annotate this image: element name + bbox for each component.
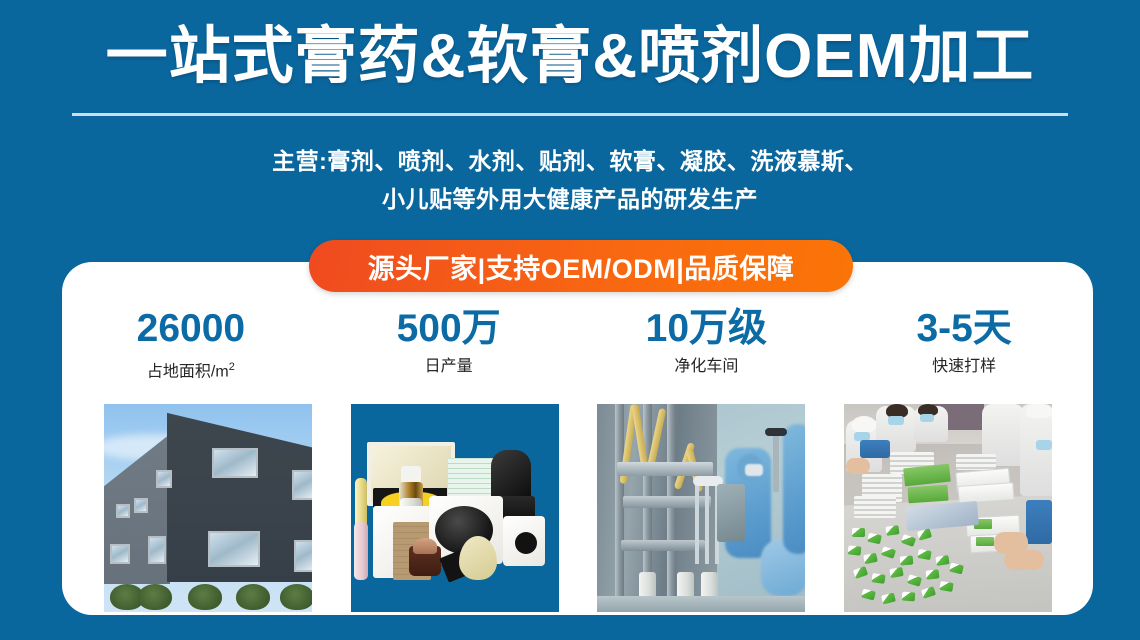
blue-tote-bin	[1026, 500, 1052, 544]
worker-hand	[1004, 550, 1044, 570]
stat-label-text: 净化车间	[674, 358, 738, 375]
stand-pole	[773, 428, 779, 492]
stand-knob	[765, 428, 787, 436]
subtitle-line-2: 小儿贴等外用大健康产品的研发生产	[0, 180, 1140, 218]
stat-cleanroom-class: 10万级 净化车间	[578, 305, 836, 395]
thyroid-patch-product	[459, 536, 497, 580]
production-line-photo	[597, 404, 805, 612]
stat-label-text: 日产量	[425, 358, 473, 375]
stat-daily-output: 500万 日产量	[320, 305, 578, 395]
sachet-item	[939, 581, 953, 592]
window-shape	[116, 504, 130, 518]
blue-tote-bin	[860, 440, 890, 458]
shrub-shape	[280, 584, 312, 610]
machine-column	[667, 404, 676, 612]
worker-cap	[1026, 404, 1052, 418]
window-shape	[156, 470, 172, 488]
stat-value: 3-5天	[835, 305, 1093, 353]
worker-mask	[888, 416, 904, 425]
window-shape	[212, 448, 258, 478]
factory-building-photo	[104, 404, 312, 612]
stat-label-text: 快速打样	[932, 358, 996, 375]
machine-column	[615, 404, 624, 612]
shrub-shape	[138, 584, 172, 610]
worker-cap	[852, 416, 876, 432]
stat-value: 10万级	[578, 305, 836, 353]
sachet-item	[900, 555, 914, 565]
stats-row: 26000 占地面积/m2 500万 日产量 10万级 净化车间 3-5天 快速…	[62, 305, 1093, 395]
subtitle: 主营:膏剂、喷剂、水剂、贴剂、软膏、凝胶、洗液慕斯、 小儿贴等外用大健康产品的研…	[0, 142, 1140, 218]
worker-mask	[1036, 440, 1052, 450]
control-panel	[717, 484, 745, 542]
conveyor-belt	[597, 596, 805, 612]
green-product-batch	[903, 464, 951, 487]
shrub-shape	[188, 584, 222, 610]
sachet-item	[852, 528, 865, 537]
nozzle	[705, 486, 709, 564]
promo-banner: 一站式膏药&软膏&喷剂OEM加工 主营:膏剂、喷剂、水剂、贴剂、软膏、凝胶、洗液…	[0, 0, 1140, 640]
green-product-batch	[907, 485, 948, 504]
status-badge[interactable]: 源头厂家|支持OEM/ODM|品质保障	[309, 240, 853, 292]
window-shape	[208, 531, 260, 567]
sachet-item	[885, 525, 899, 536]
worker-mask	[745, 464, 763, 476]
product-stack	[854, 496, 896, 518]
window-shape	[134, 498, 148, 513]
stat-value: 500万	[320, 305, 578, 353]
sachet-item	[871, 573, 885, 584]
product-range-photo	[351, 404, 559, 612]
syringe-plunger	[354, 522, 368, 580]
status-badge-label: 源头厂家|支持OEM/ODM|品质保障	[368, 247, 795, 286]
packaging-workshop-photo	[844, 404, 1052, 612]
worker-mask	[920, 414, 934, 422]
window-shape	[110, 544, 130, 564]
nozzle	[695, 486, 699, 564]
window-shape	[292, 470, 312, 500]
sachet-item	[848, 545, 862, 555]
photo-row	[104, 404, 1052, 612]
worker-hand	[846, 458, 870, 474]
stat-label-superscript: 2	[229, 361, 235, 373]
stat-label: 日产量	[320, 354, 578, 380]
sachet-item	[926, 569, 940, 579]
machine-crossbar	[621, 540, 705, 551]
stat-label: 占地面积/m2	[62, 354, 320, 385]
window-shape	[148, 536, 166, 564]
stat-label-text: 占地面积/m	[147, 363, 229, 380]
cream-swirl-shape	[413, 538, 437, 554]
stat-label: 净化车间	[578, 354, 836, 380]
stat-sampling-lead-time: 3-5天 快速打样	[835, 305, 1093, 395]
page-title: 一站式膏药&软膏&喷剂OEM加工	[0, 20, 1140, 94]
black-dome-jar-product	[491, 450, 531, 500]
box-label	[976, 537, 994, 546]
sachet-item	[902, 592, 916, 602]
window-shape	[294, 540, 312, 572]
stat-label: 快速打样	[835, 354, 1093, 380]
shrub-shape	[236, 584, 270, 610]
stat-value: 26000	[62, 305, 320, 353]
machine-crossbar	[617, 462, 713, 476]
subtitle-line-1: 主营:膏剂、喷剂、水剂、贴剂、软膏、凝胶、洗液慕斯、	[0, 142, 1140, 180]
worker-figure	[783, 424, 805, 554]
product-stack	[956, 454, 996, 470]
stat-floor-area: 26000 占地面积/m2	[62, 305, 320, 395]
dot-patch-center	[515, 532, 537, 554]
title-divider	[72, 113, 1068, 116]
